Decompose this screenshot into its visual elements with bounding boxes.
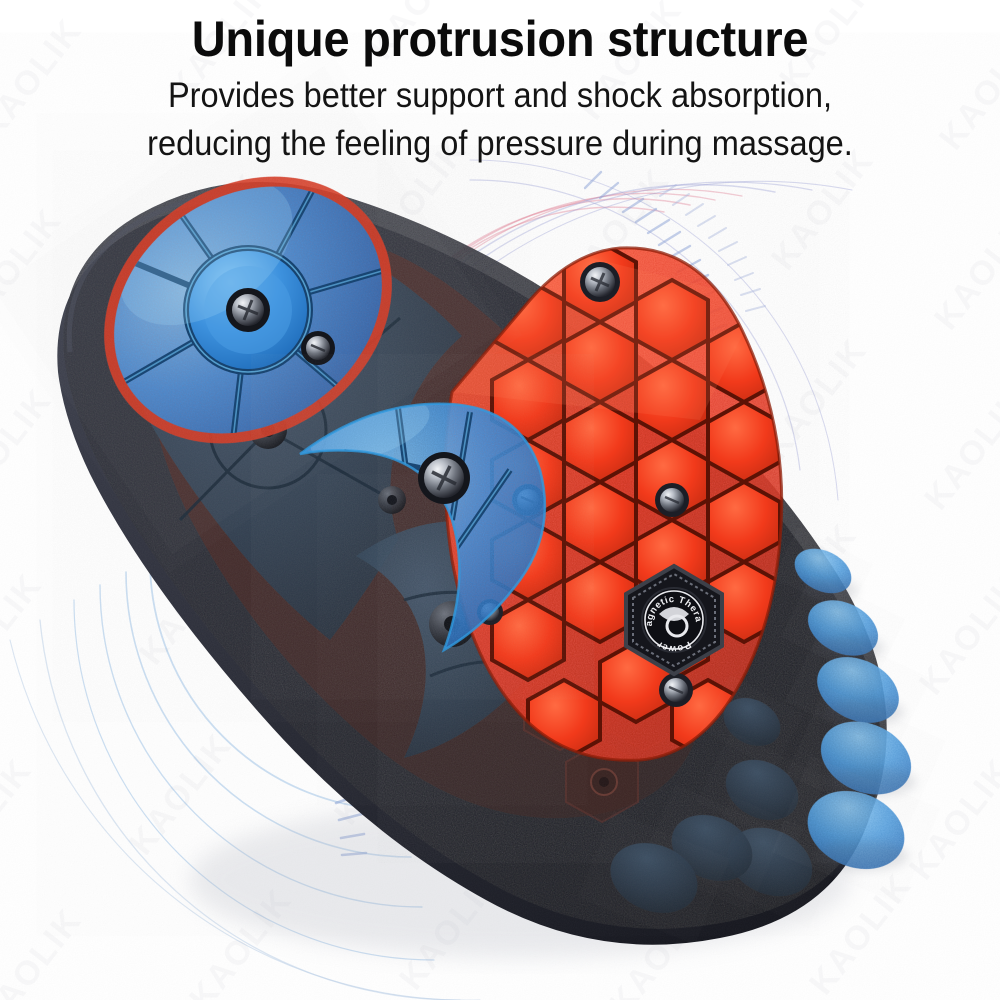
subtitle-line-1: Provides better support and shock absorp… [35,74,965,118]
product-marketing-image: Magnetic Therapy Power [0,0,1000,1000]
subtitle-line-2: reducing the feeling of pressure during … [35,122,965,166]
header-block: Unique protrusion structure Provides bet… [0,0,1000,166]
page-title: Unique protrusion structure [30,8,970,70]
